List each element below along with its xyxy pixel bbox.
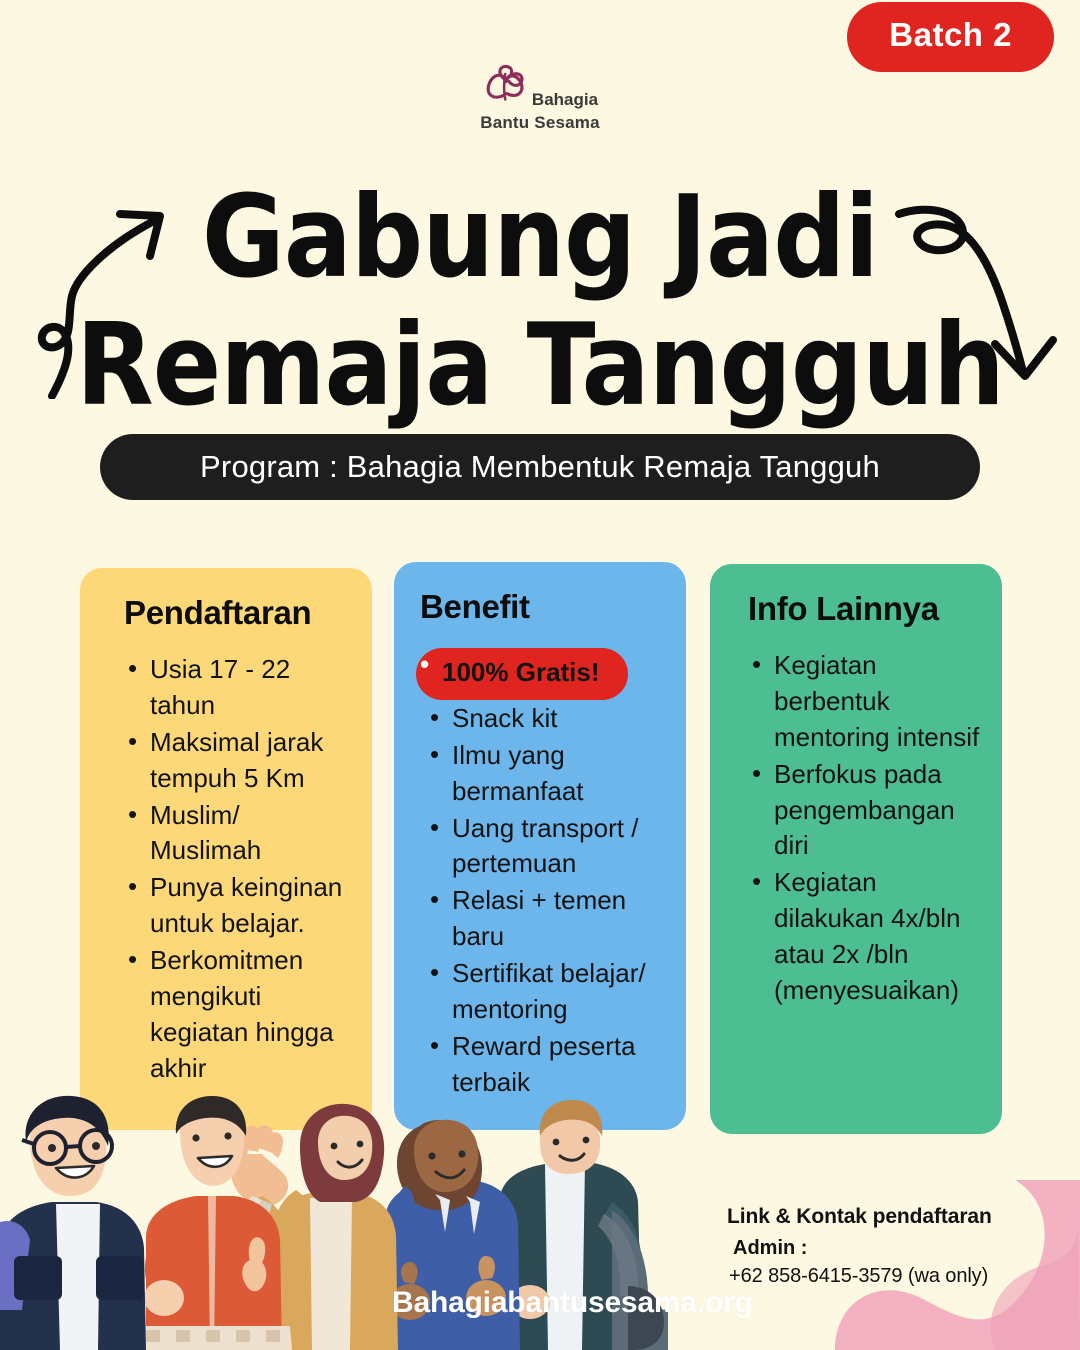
- card-list-info-lainnya: Kegiatan berbentuk mentoring intensif Be…: [748, 648, 980, 1009]
- card-title-benefit: Benefit: [420, 588, 664, 626]
- brand-logo: Bahagia Bantu Sesama: [0, 62, 1080, 131]
- card-list-pendaftaran: Usia 17 - 22 tahun Maksimal jarak tempuh…: [124, 652, 350, 1087]
- curved-arrow-down-right-icon: [887, 194, 1062, 399]
- program-label: Program : Bahagia Membentuk Remaja Tangg…: [200, 449, 880, 485]
- list-item: Ilmu yang bermanfaat: [426, 738, 664, 810]
- free-badge: 100% Gratis!: [416, 648, 628, 700]
- logo-name-line1: Bahagia: [532, 91, 598, 110]
- list-item: Muslim/ Muslimah: [124, 798, 350, 870]
- poster-canvas: Batch 2 Bahagia Bantu Sesama: [0, 0, 1080, 1350]
- card-title-info-lainnya: Info Lainnya: [748, 590, 980, 628]
- list-item: Berfokus pada pengembangan diri: [748, 757, 980, 865]
- list-item: Maksimal jarak tempuh 5 Km: [124, 725, 350, 797]
- contact-title: Link & Kontak pendaftaran: [727, 1205, 992, 1229]
- butterfly-icon: [482, 62, 530, 110]
- contact-admin-label: Admin :: [733, 1237, 992, 1260]
- logo-name-line2: Bantu Sesama: [480, 114, 600, 131]
- headline-block: Gabung Jadi Remaja Tangguh: [0, 172, 1080, 416]
- batch-badge: Batch 2: [847, 2, 1054, 72]
- card-benefit: Benefit 100% Gratis! Snack kit Ilmu yang…: [394, 562, 686, 1130]
- card-list-benefit: 100% Gratis! Snack kit Ilmu yang bermanf…: [426, 648, 664, 1101]
- website-watermark: Bahagiabantusesama.org: [392, 1286, 753, 1320]
- contact-phone[interactable]: +62 858-6415-3579 (wa only): [729, 1265, 992, 1288]
- card-info-lainnya: Info Lainnya Kegiatan berbentuk mentorin…: [710, 564, 1002, 1134]
- curved-arrow-up-right-icon: [32, 184, 197, 399]
- boy-with-glasses-navy-vest: [0, 1096, 146, 1350]
- list-item: Kegiatan dilakukan 4x/bln atau 2x /bln (…: [748, 865, 980, 1009]
- list-item: Uang transport / pertemuan: [426, 811, 664, 883]
- list-item: Sertifikat belajar/ mentoring: [426, 956, 664, 1028]
- card-pendaftaran: Pendaftaran Usia 17 - 22 tahun Maksimal …: [80, 568, 372, 1130]
- program-pill: Program : Bahagia Membentuk Remaja Tangg…: [100, 434, 980, 500]
- list-item: Usia 17 - 22 tahun: [124, 652, 350, 724]
- list-item: Punya keinginan untuk belajar.: [124, 870, 350, 942]
- list-item: Relasi + temen baru: [426, 883, 664, 955]
- card-title-pendaftaran: Pendaftaran: [124, 594, 350, 632]
- list-item: Kegiatan berbentuk mentoring intensif: [748, 648, 980, 756]
- contact-block: Link & Kontak pendaftaran Admin : +62 85…: [727, 1205, 992, 1288]
- list-item: Snack kit: [426, 701, 664, 737]
